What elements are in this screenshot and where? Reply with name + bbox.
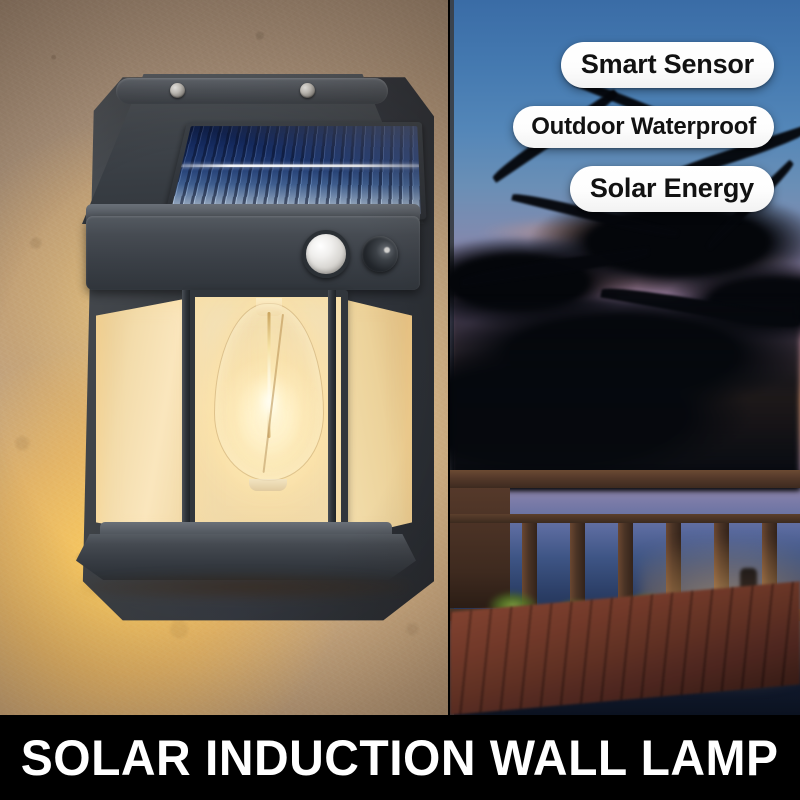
railing-mid-rail [450,514,800,523]
bottom-banner: SOLAR INDUCTION WALL LAMP [0,715,800,800]
banner-title: SOLAR INDUCTION WALL LAMP [21,729,779,787]
left-product-photo [0,0,448,715]
sky-haze-band [450,300,800,390]
product-advertisement-image: Smart Sensor Outdoor Waterproof Solar En… [0,0,800,800]
feature-badge-smart-sensor: Smart Sensor [561,42,774,88]
feature-badge-solar-energy: Solar Energy [570,166,774,212]
feature-badge-outdoor-waterproof: Outdoor Waterproof [513,106,774,148]
railing-top-rail [450,470,800,488]
wall-vignette [0,0,448,715]
feature-badge-list: Smart Sensor Outdoor Waterproof Solar En… [450,0,800,260]
